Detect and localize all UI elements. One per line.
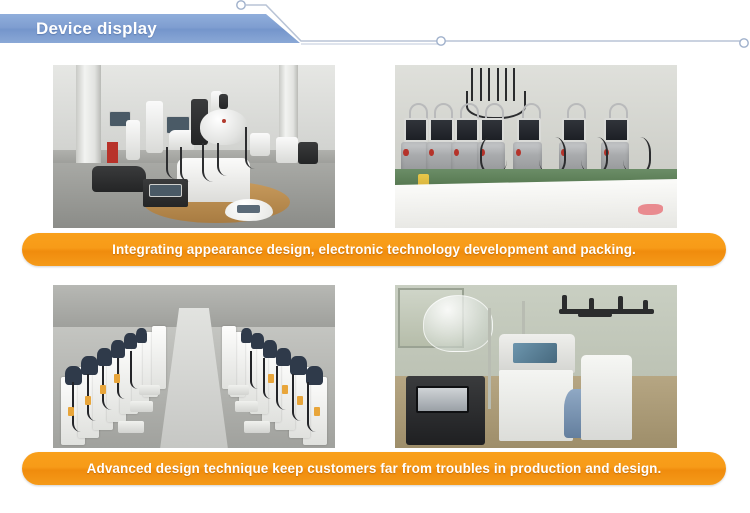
caption-bar-2: Advanced design technique keep customers… xyxy=(22,452,726,485)
photo-lab-equipment xyxy=(395,285,677,448)
photo-lab-equipment-artwork xyxy=(395,285,677,448)
deco-node-right-icon xyxy=(740,39,748,47)
caption-bar-1: Integrating appearance design, electroni… xyxy=(22,233,726,266)
deco-node-left-icon xyxy=(237,1,245,9)
deco-polyline-left xyxy=(246,5,441,41)
photo-assembly-line xyxy=(53,285,335,448)
caption-text-2: Advanced design technique keep customers… xyxy=(87,461,662,476)
page-title: Device display xyxy=(36,16,157,42)
photo-assembly-line-artwork xyxy=(53,285,335,448)
deco-node-mid-icon xyxy=(437,37,445,45)
photo-showroom-artwork xyxy=(53,65,335,228)
overhead-arm-rig xyxy=(559,295,655,331)
photo-showroom xyxy=(53,65,335,228)
device-display-page: Device display xyxy=(0,0,750,513)
photo-cryo-line-artwork xyxy=(395,65,677,228)
device-gallery: Integrating appearance design, electroni… xyxy=(0,56,750,513)
photo-cryo-line xyxy=(395,65,677,228)
page-header: Device display xyxy=(0,0,750,56)
caption-text-1: Integrating appearance design, electroni… xyxy=(112,242,636,257)
